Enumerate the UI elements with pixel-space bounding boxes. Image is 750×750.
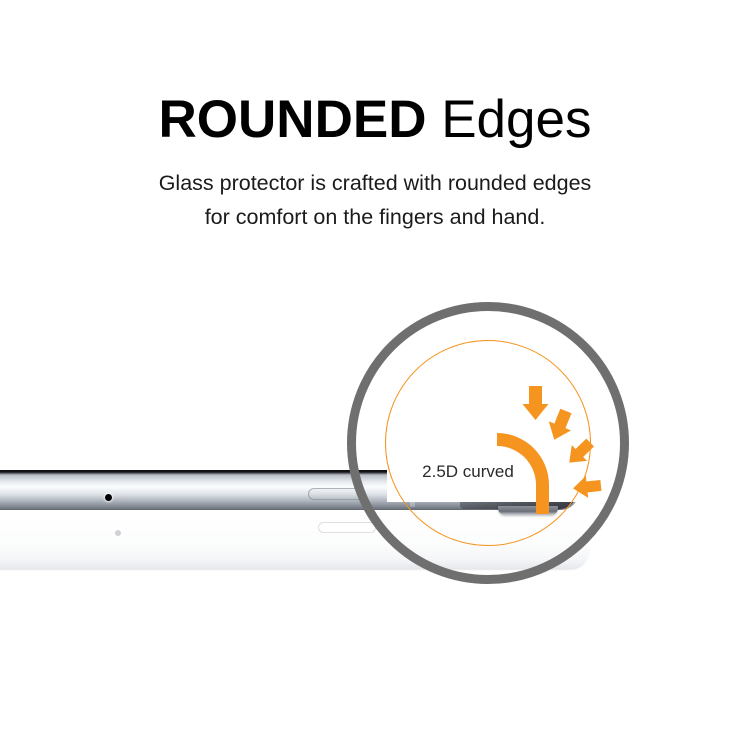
pressure-arrow-right-icon — [572, 474, 602, 499]
product-scene: 2.5D curved — [0, 260, 750, 640]
page-title: ROUNDED Edges — [0, 92, 750, 148]
subtitle-line-2: for comfort on the fingers and hand. — [0, 200, 750, 234]
microphone-hole-icon — [105, 494, 112, 501]
product-feature-card: ROUNDED Edges Glass protector is crafted… — [0, 0, 750, 750]
reflection-microphone-dot — [115, 530, 121, 536]
pressure-arrow-tilted-2-icon — [562, 435, 598, 471]
title-space — [426, 90, 441, 149]
pressure-arrow-tilted-1-icon — [543, 407, 577, 445]
pressure-arrows-group — [347, 302, 629, 584]
magnifier-callout: 2.5D curved — [347, 302, 629, 584]
pressure-arrow-down-icon — [523, 386, 549, 420]
page-subtitle: Glass protector is crafted with rounded … — [0, 166, 750, 234]
title-light: Edges — [441, 90, 591, 149]
title-strong: ROUNDED — [159, 90, 427, 149]
curved-edge-arc-icon — [497, 433, 549, 514]
subtitle-line-1: Glass protector is crafted with rounded … — [0, 166, 750, 200]
